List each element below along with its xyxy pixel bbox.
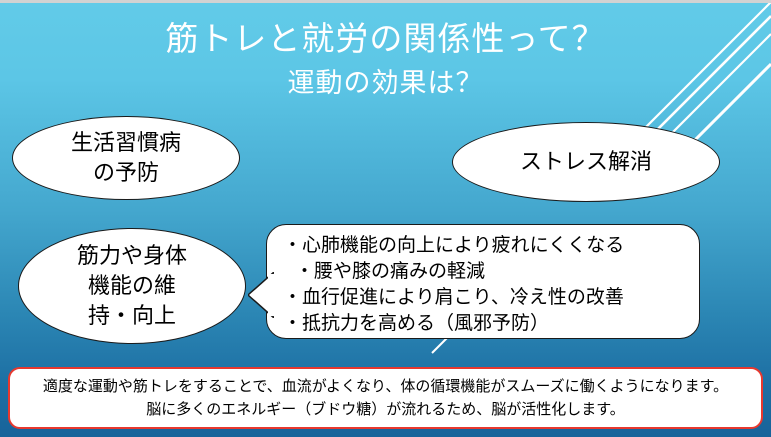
ellipse-muscle-line1: 筋力や身体 [77,241,187,271]
list-item: ・腰や膝の痛みの軽減 [283,259,689,285]
ellipse-stress-text: ストレス解消 [512,147,660,177]
list-item: ・血行促進により肩こり、冷え性の改善 [283,285,689,311]
ellipse-muscle-function-maintenance: 筋力や身体 機能の維 持・向上 [18,228,246,344]
benefits-list: ・心肺機能の向上により疲れにくくなる ・腰や膝の痛みの軽減 ・血行促進により肩こ… [283,233,689,337]
ellipse-lifestyle-disease-prevention: 生活習慣病 の予防 [12,116,240,200]
list-item: ・心肺機能の向上により疲れにくくなる [283,233,689,259]
ellipse-stress-relief: ストレス解消 [452,122,720,202]
ellipse-lifestyle-line1: 生活習慣病 [71,128,181,158]
page-title: 筋トレと就労の関係性って？ [0,18,771,60]
title-block: 筋トレと就労の関係性って？ 運動の効果は？ [0,18,771,102]
top-edge-strip [0,0,771,3]
ellipse-lifestyle-line2: の予防 [71,158,181,188]
page-subtitle: 運動の効果は？ [0,64,771,102]
bottom-note-line1: 適度な運動や筋トレをすることで、血流がよくなり、体の循環機能がスムーズに働くよう… [43,375,728,398]
bottom-note-box: 適度な運動や筋トレをすることで、血流がよくなり、体の循環機能がスムーズに働くよう… [8,367,763,429]
bottom-note-line2: 脳に多くのエネルギー（ブドウ糖）が流れるため、脳が活性化します。 [146,398,625,421]
list-item: ・抵抗力を高める（風邪予防） [283,311,689,337]
ellipse-muscle-line2: 機能の維 [77,271,187,301]
ellipse-muscle-text: 筋力や身体 機能の維 持・向上 [69,241,195,331]
ellipse-muscle-line3: 持・向上 [77,301,187,331]
ellipse-lifestyle-text: 生活習慣病 の予防 [63,128,189,188]
callout-exercise-benefits: ・心肺機能の向上により疲れにくくなる ・腰や膝の痛みの軽減 ・血行促進により肩こ… [266,224,700,339]
slide-canvas: 筋トレと就労の関係性って？ 運動の効果は？ 生活習慣病 の予防 ストレス解消 筋… [0,0,771,437]
ellipse-stress-line1: ストレス解消 [520,147,652,177]
callout-tail-icon [248,272,274,318]
